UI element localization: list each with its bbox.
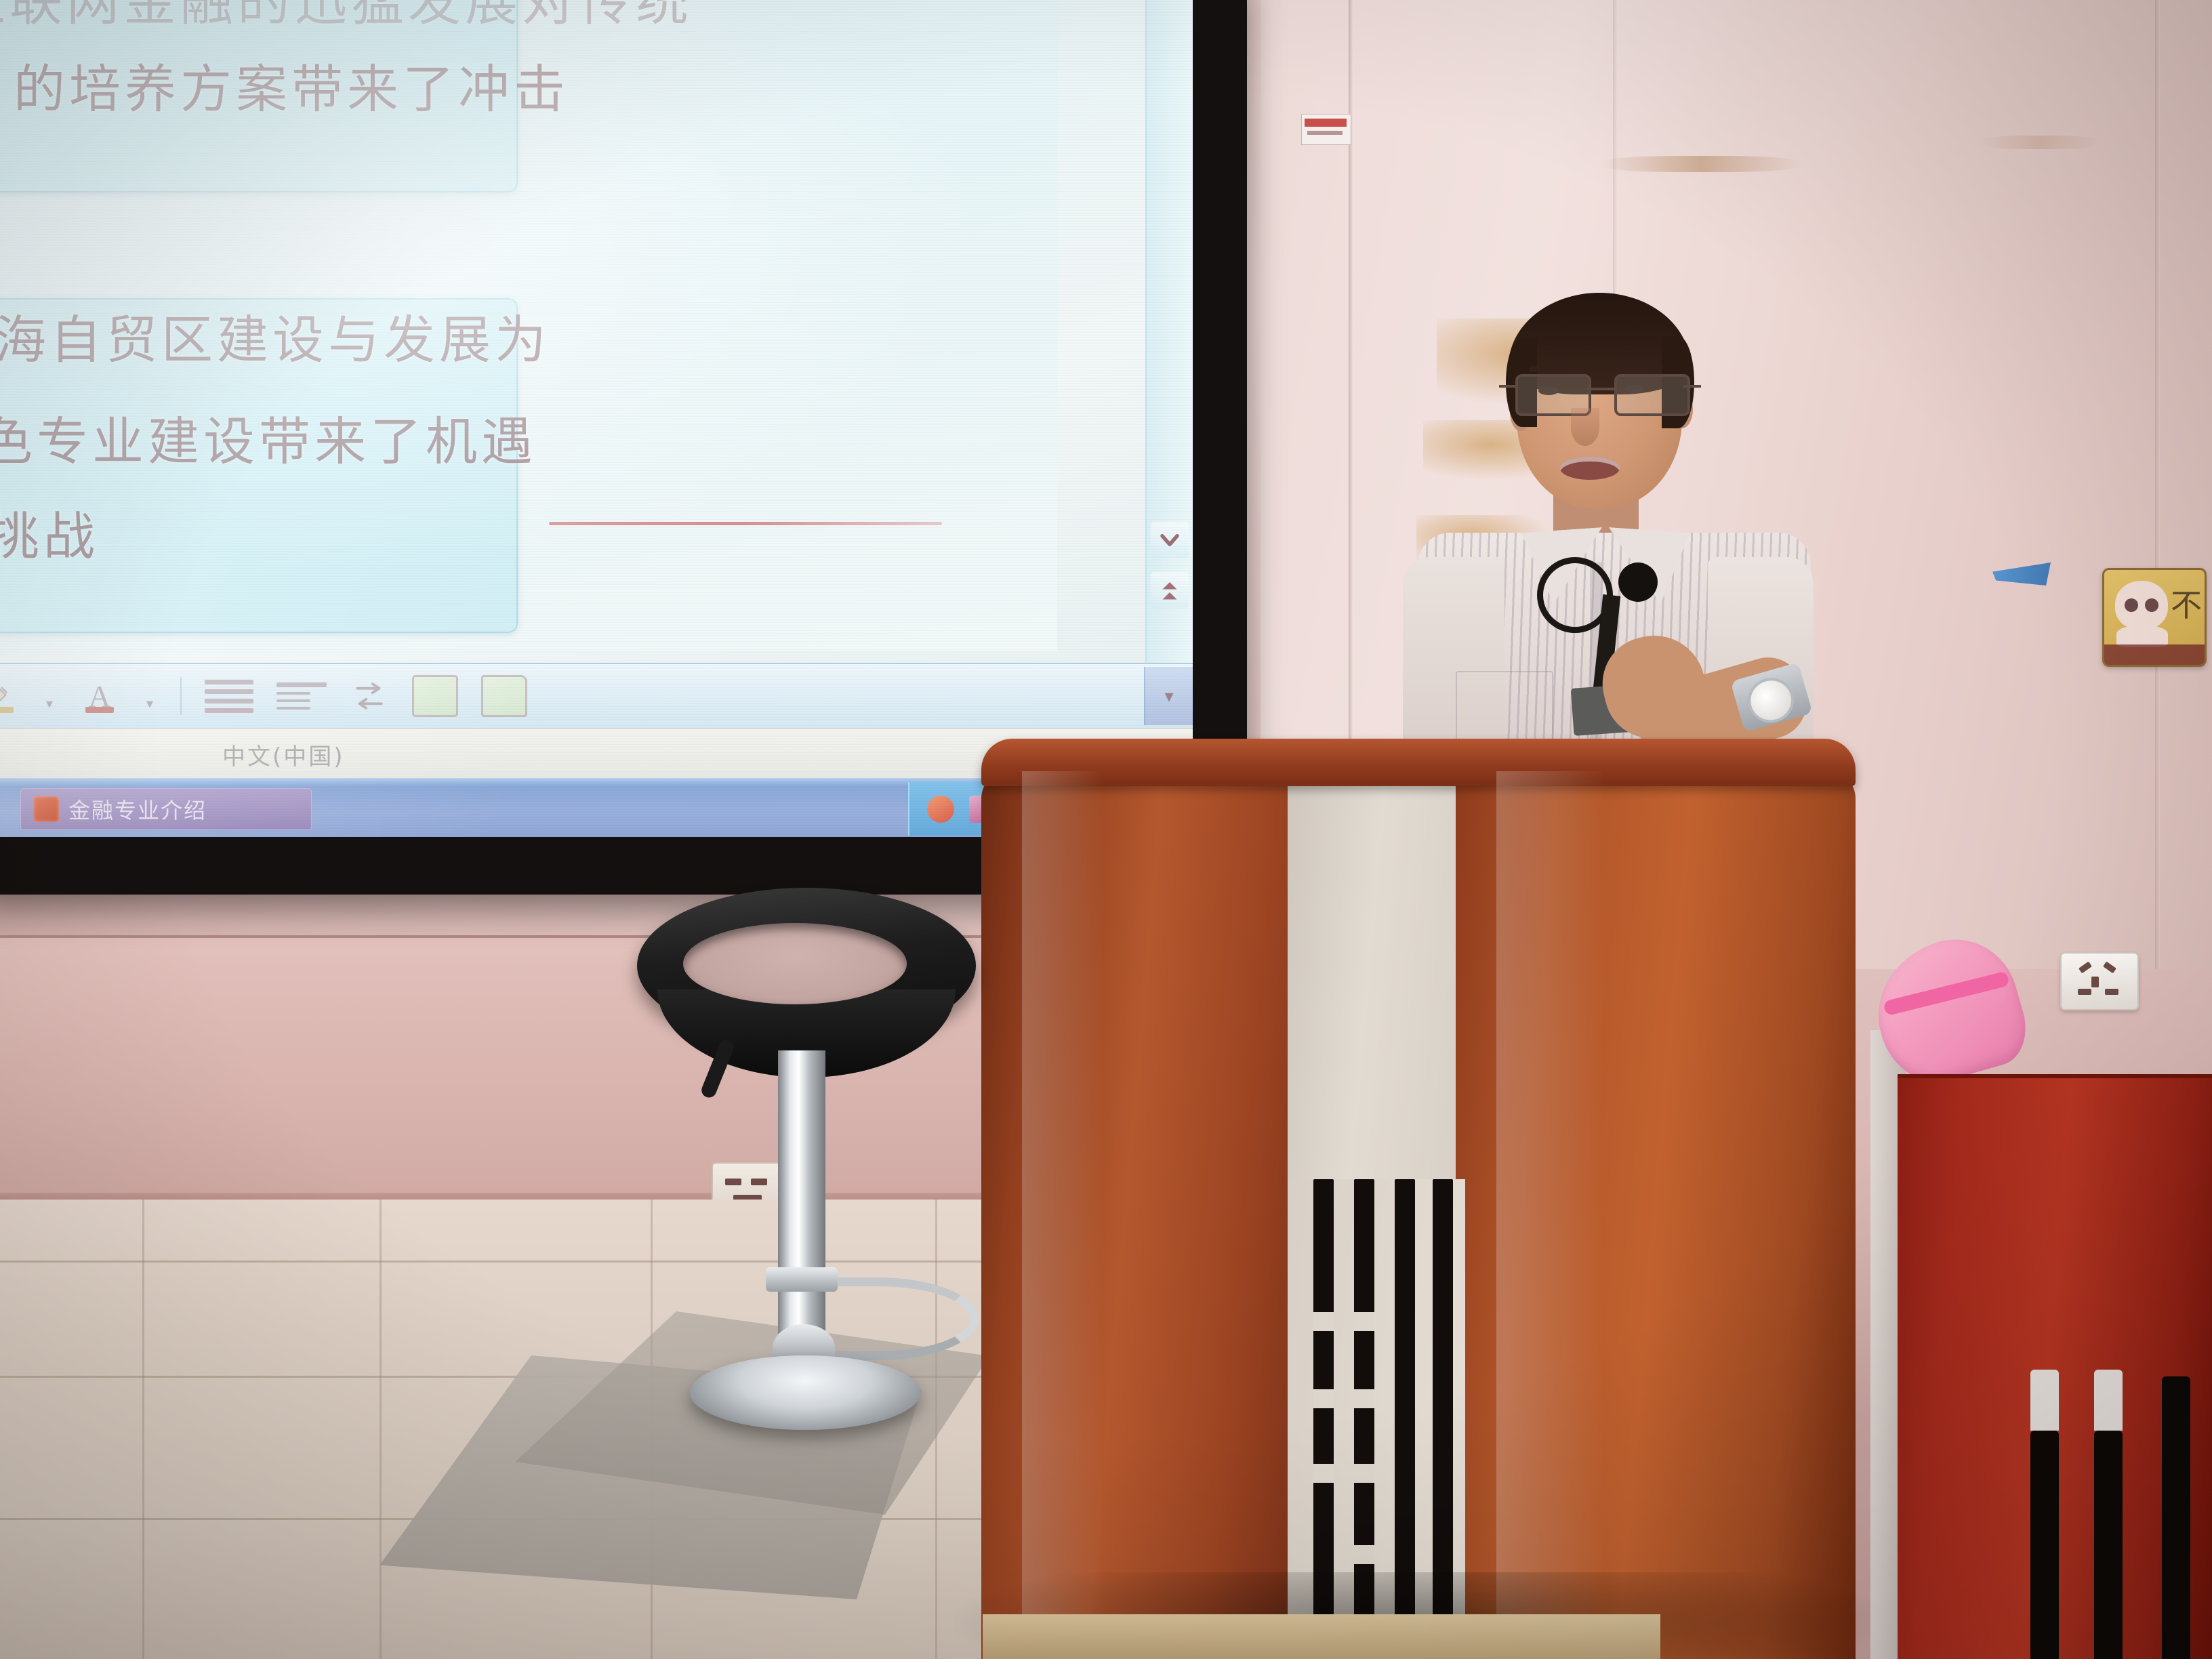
- slide-text-line: 特色专业建设带来了机遇: [0, 400, 537, 474]
- highlight-dropdown-icon[interactable]: ▾: [42, 680, 57, 712]
- highlight-color-icon[interactable]: [0, 676, 19, 716]
- foreground-desk-edge: [983, 1614, 1660, 1659]
- wooden-lectern: [981, 739, 1856, 1659]
- sticker-character: 不: [2171, 581, 2202, 626]
- mouth: [1560, 457, 1620, 480]
- slide-divider-rule: [549, 522, 942, 525]
- font-color-icon[interactable]: A: [80, 676, 119, 716]
- nose: [1571, 408, 1599, 446]
- lectern-right-panel: [1456, 771, 1856, 1659]
- cartoon-warning-sticker: 不: [2102, 568, 2207, 667]
- toolbar-separator: [180, 677, 182, 715]
- slide-text-line: 上海自贸区建设与发展为: [0, 298, 550, 373]
- wall-seam: [2155, 0, 2160, 969]
- stool-base-plate: [690, 1355, 920, 1430]
- lecture-hall-scene: 不 互联网金融的迅猛发展对传统 的培养方案带来了冲击 上海自贸区建设与发展为 特…: [0, 0, 2212, 1659]
- lectern-left-panel: [981, 771, 1300, 1659]
- sticker-footer-strip: [2104, 644, 2205, 665]
- taskbar-window-button[interactable]: 金融专业介绍: [20, 788, 312, 830]
- chevron-down-icon[interactable]: [1151, 522, 1189, 558]
- stool-collar: [766, 1267, 838, 1292]
- lens-right: [1614, 374, 1690, 416]
- glasses-bridge: [1586, 388, 1614, 390]
- glasses-temple: [1499, 385, 1517, 388]
- wall-scuff: [1599, 156, 1803, 172]
- indent-icon[interactable]: [350, 676, 389, 716]
- line-spacing-icon[interactable]: [276, 682, 327, 710]
- taskbar-window-label: 金融专业介绍: [68, 794, 207, 825]
- eyeglasses: [1515, 374, 1685, 412]
- stool-seat-opening: [683, 923, 907, 1004]
- shirt-pocket: [1456, 671, 1553, 747]
- slide-text-line: 和挑战: [0, 495, 99, 569]
- projection-screen: 互联网金融的迅猛发展对传统 的培养方案带来了冲击 上海自贸区建设与发展为 特色专…: [0, 0, 1193, 837]
- font-color-dropdown-icon[interactable]: ▾: [142, 680, 157, 712]
- slide-text-line: 的培养方案带来了冲击: [14, 47, 569, 122]
- presenter: [1403, 291, 1823, 766]
- shape-3d-icon[interactable]: [481, 675, 527, 717]
- slide-canvas: 互联网金融的迅猛发展对传统 的培养方案带来了冲击 上海自贸区建设与发展为 特色专…: [0, 0, 1057, 651]
- shape-fill-icon[interactable]: [412, 675, 458, 717]
- align-justify-icon[interactable]: [205, 680, 253, 713]
- slide-text-line: 互联网金融的迅猛发展对传统: [0, 0, 693, 35]
- small-red-white-label: [1301, 114, 1351, 145]
- language-indicator[interactable]: 中文(中国): [222, 738, 345, 771]
- double-chevron-up-icon[interactable]: [1151, 572, 1189, 609]
- label-bar: [1305, 119, 1347, 127]
- slide-scrollbar[interactable]: [1145, 0, 1193, 671]
- label-text: [1307, 131, 1343, 135]
- cat-face-icon: [2115, 581, 2168, 630]
- glasses-temple: [1683, 385, 1701, 388]
- wall-scuff: [1979, 136, 2101, 149]
- adjustable-bar-stool: [637, 888, 983, 1450]
- powerpoint-icon: [33, 796, 59, 822]
- qq-icon[interactable]: [927, 796, 954, 823]
- red-wooden-bench: [1898, 1074, 2212, 1659]
- toolbar-overflow-icon[interactable]: ▾: [1144, 667, 1193, 725]
- clip-microphone-icon: [1618, 562, 1658, 602]
- office-toolbar[interactable]: ▾ A ▾: [0, 663, 1193, 728]
- lectern-top-edge: [981, 739, 1856, 786]
- wall-power-socket-upper[interactable]: [2060, 952, 2139, 1010]
